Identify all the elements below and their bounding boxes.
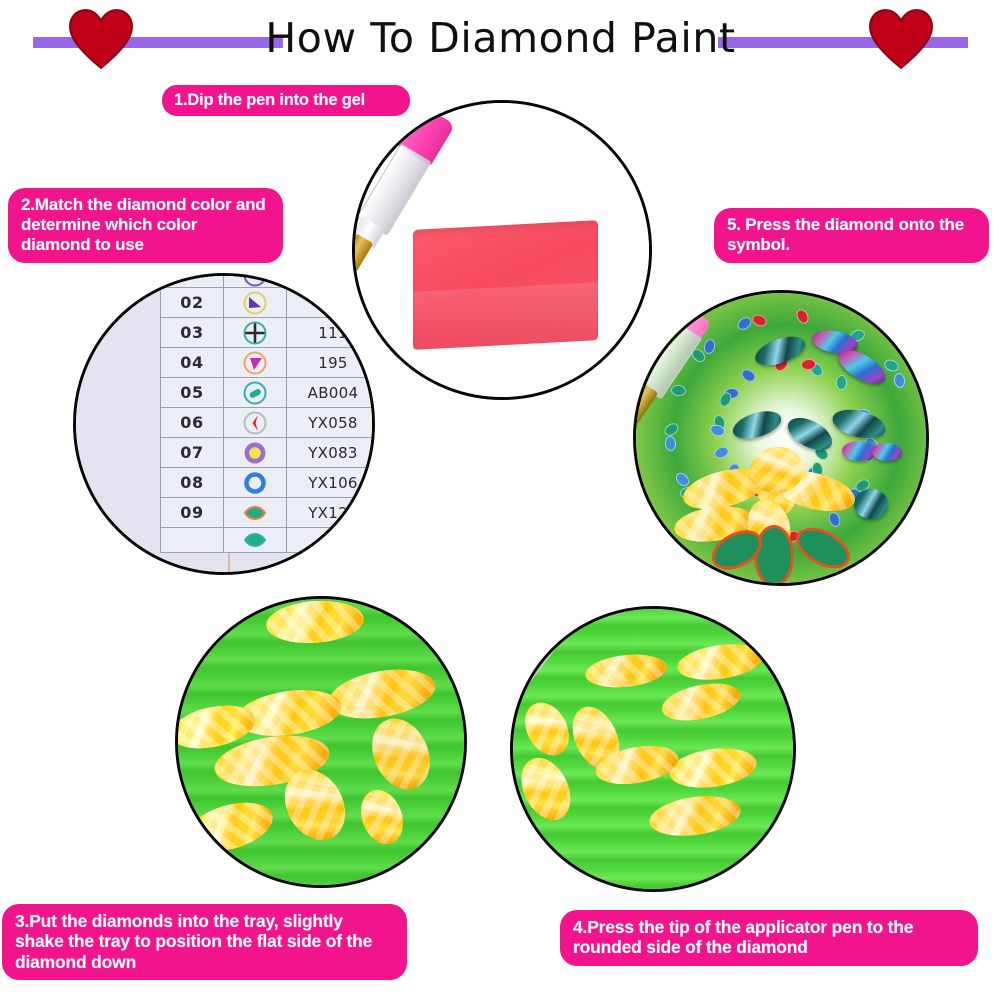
step-3-photo-diamonds-in-tray: [175, 596, 467, 888]
canvas-symbol-dot: [826, 510, 842, 528]
step-5-photo-diamond-on-symbol: [633, 290, 929, 586]
capsule-icon: [224, 378, 287, 408]
chart-cell-number: [161, 528, 224, 553]
canvas-symbol-dot: [883, 358, 901, 374]
yellow-marquise-diamond: [361, 709, 440, 799]
chart-cell-code: YX058: [287, 408, 376, 438]
chart-cell-number: 03: [161, 318, 224, 348]
chart-cell-number: 09: [161, 498, 224, 528]
canvas-symbol-dot: [665, 436, 677, 452]
triangle-icon: [224, 288, 287, 318]
chart-cell-code: 093: [287, 288, 376, 318]
step-4-label: 4.Press the tip of the applicator pen to…: [560, 910, 978, 966]
page-title: How To Diamond Paint: [0, 14, 1001, 62]
leaf-icon: [224, 528, 287, 553]
chart-cell-code: 195: [287, 348, 376, 378]
yellow-marquise-diamond: [325, 662, 439, 726]
chart-cell-code: 111: [287, 318, 376, 348]
filled-circle-icon: [224, 438, 287, 468]
chart-sheet: 02802093031110419505AB00406YX05807YX0830…: [160, 273, 375, 553]
chart-cell-number: 07: [161, 438, 224, 468]
table-row: 09YX125: [161, 498, 376, 528]
table-row: 06YX058: [161, 408, 376, 438]
chart-cell-number: 05: [161, 378, 224, 408]
chart-scene: 02802093031110419505AB00406YX05807YX0830…: [76, 276, 372, 572]
yellow-marquise-diamond: [354, 784, 411, 850]
table-row: 05AB004: [161, 378, 376, 408]
step-4-photo-pen-picking-diamond: [510, 606, 796, 892]
canvas-symbol-dot: [750, 313, 768, 329]
green-tray: [178, 599, 464, 885]
applicator-pen: [633, 304, 717, 459]
canvas-symbol-dot: [836, 375, 848, 390]
yellow-marquise-diamond: [647, 791, 743, 841]
step-3-label: 3.Put the diamonds into the tray, slight…: [2, 904, 407, 980]
page-header: How To Diamond Paint: [0, 0, 1001, 80]
chart-cell-code: AB004: [287, 378, 376, 408]
chart-cell-number: 06: [161, 408, 224, 438]
canvas-symbol-dot: [794, 307, 811, 325]
table-row: 08YX106: [161, 468, 376, 498]
placed-diamond: [830, 405, 889, 443]
yellow-marquise-diamond: [675, 639, 765, 685]
chart-cell-code: YX125: [287, 498, 376, 528]
mandala-canvas: [636, 293, 926, 583]
yellow-marquise-diamond: [658, 677, 743, 727]
canvas-symbol-dot: [893, 372, 906, 389]
placed-diamond: [730, 406, 785, 444]
canvas-symbol-dot: [713, 444, 731, 460]
yellow-marquise-diamond: [182, 794, 279, 861]
table-row: 07YX083: [161, 438, 376, 468]
chart-cell-number: 02: [161, 288, 224, 318]
chart-cell-code: YX083: [287, 438, 376, 468]
chart-cell-number: 04: [161, 348, 224, 378]
step-2-photo-color-chart: 02802093031110419505AB00406YX05807YX0830…: [73, 273, 375, 575]
yellow-marquise-diamond: [667, 743, 759, 793]
triangle-down-icon: [224, 348, 287, 378]
yellow-marquise-diamond: [584, 651, 669, 691]
chart-cell-number: [161, 273, 224, 288]
pen-tip: [633, 382, 658, 436]
table-row: 03111: [161, 318, 376, 348]
color-symbol-table: 02802093031110419505AB00406YX05807YX0830…: [160, 273, 375, 553]
table-row: 04195: [161, 348, 376, 378]
canvas-symbol-dot: [735, 315, 754, 333]
yellow-marquise-diamond: [516, 695, 578, 763]
step-5-label: 5. Press the diamond onto the symbol.: [714, 208, 989, 263]
canvas-symbol-dot: [739, 367, 758, 385]
chart-cell-code: 028: [287, 273, 376, 288]
placed-diamond: [854, 489, 888, 519]
double-dot-icon: [224, 273, 287, 288]
chart-cell-code: [287, 528, 376, 553]
chevron-left-icon: [224, 408, 287, 438]
yellow-marquise-diamond: [512, 750, 580, 829]
pink-gel-pad: [413, 220, 598, 350]
chart-cell-number: 08: [161, 468, 224, 498]
placed-diamond: [872, 443, 902, 461]
empty-petal-symbol: [754, 525, 794, 586]
ring-icon: [224, 468, 287, 498]
yellow-marquise-diamond: [265, 598, 366, 647]
step-1-photo-pen-in-gel: [352, 100, 652, 400]
leaf-icon: [224, 498, 287, 528]
table-row: [161, 528, 376, 553]
gel-scene: [355, 103, 649, 397]
chart-cell-code: YX106: [287, 468, 376, 498]
placed-diamond: [842, 441, 876, 461]
step-2-label: 2.Match the diamond color and determine …: [8, 188, 283, 263]
green-tray: [513, 609, 793, 889]
table-row: 02093: [161, 288, 376, 318]
empty-petal-symbol: [789, 519, 856, 576]
table-row: 028: [161, 273, 376, 288]
plus-icon: [224, 318, 287, 348]
